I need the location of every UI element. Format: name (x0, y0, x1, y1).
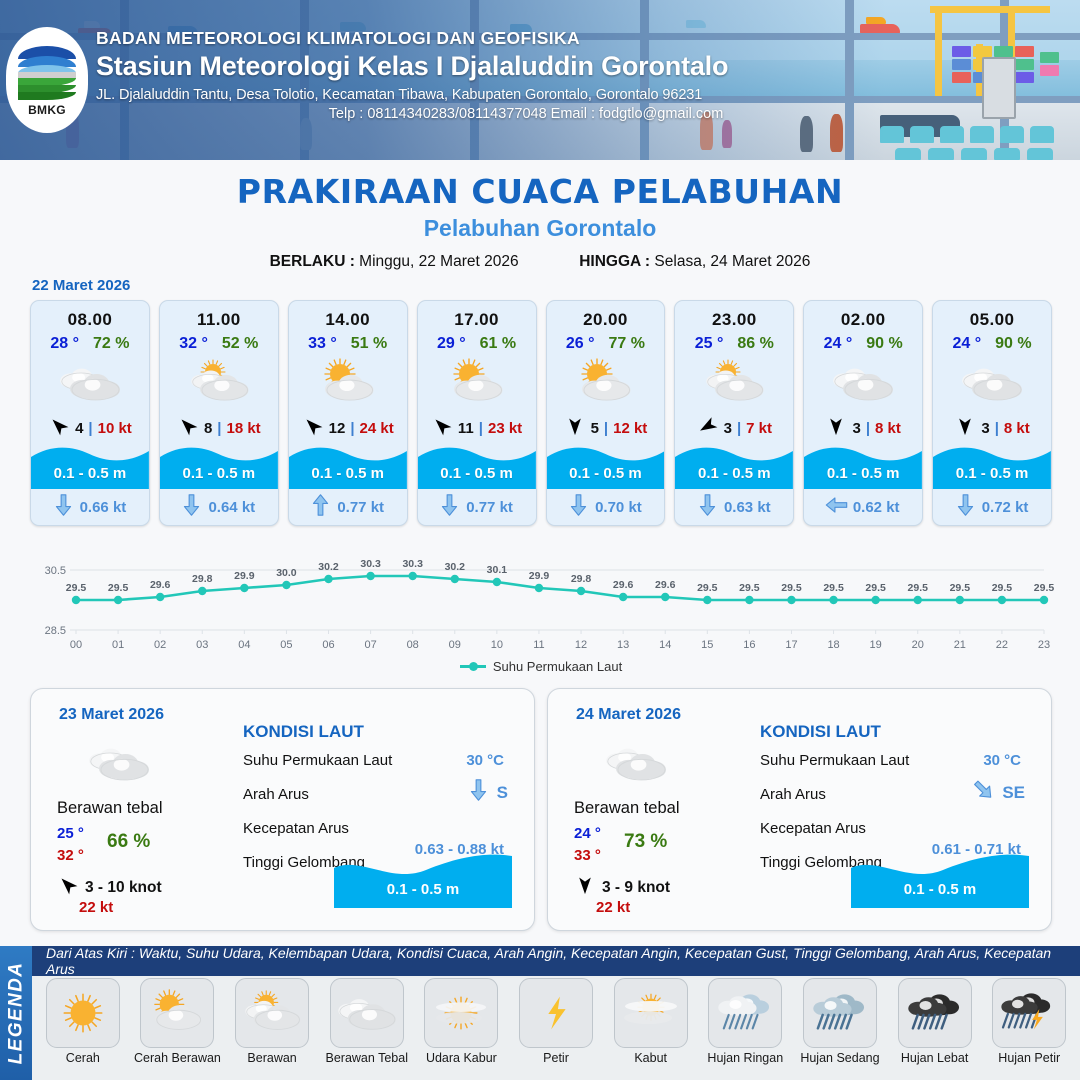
card-wave-band: 0.1 - 0.5 m (804, 443, 922, 489)
svg-text:06: 06 (322, 639, 334, 651)
card-humidity: 61 % (480, 335, 516, 353)
card-current: 0.62 kt (804, 489, 922, 525)
svg-text:19: 19 (870, 639, 882, 651)
current-speed-value: 0.63 kt (724, 499, 771, 516)
card-time: 11.00 (160, 301, 278, 330)
svg-text:29.5: 29.5 (66, 582, 87, 594)
wind-direction-arrow-icon (564, 416, 586, 441)
wind-direction-value: 8 (204, 420, 212, 437)
svg-text:16: 16 (743, 639, 755, 651)
svg-text:30.0: 30.0 (276, 567, 297, 579)
bmkg-logo: BMKG (6, 27, 88, 133)
legend-note: Dari Atas Kiri : Waktu, Suhu Udara, Kele… (46, 945, 1080, 977)
card-temperature: 25 ° (695, 335, 724, 353)
panel-wave-band: 0.1 - 0.5 m (851, 850, 1029, 908)
card-temp-humidity: 24 ° 90 % (933, 335, 1051, 353)
sea-row-current-speed-label: Kecepatan Arus (243, 820, 349, 837)
wind-speed-value: 7 kt (746, 420, 772, 437)
svg-text:11: 11 (533, 639, 544, 651)
wind-separator: | (866, 420, 870, 437)
wave-height-value: 0.1 - 0.5 m (31, 465, 149, 482)
svg-text:30.3: 30.3 (360, 558, 381, 570)
current-direction-arrow-icon (440, 494, 459, 521)
svg-text:12: 12 (575, 639, 587, 651)
current-speed-value: 0.66 kt (80, 499, 127, 516)
card-humidity: 77 % (609, 335, 645, 353)
panel-temp-min: 24 ° (574, 825, 601, 842)
svg-text:04: 04 (238, 639, 250, 651)
svg-text:07: 07 (364, 639, 376, 651)
svg-text:17: 17 (785, 639, 797, 651)
header-text-block: BADAN METEOROLOGI KLIMATOLOGI DAN GEOFIS… (96, 28, 956, 122)
panel-wave-band: 0.1 - 0.5 m (334, 850, 512, 908)
svg-text:15: 15 (701, 639, 713, 651)
wind-direction-arrow-icon (48, 416, 70, 441)
forecast-card[interactable]: 20.00 26 ° 77 % 5 | 12 kt 0.1 - 0.5 m (546, 300, 666, 526)
sea-row-sst-label: Suhu Permukaan Laut (243, 752, 392, 769)
sea-current-direction: S (469, 779, 508, 806)
sst-chart: 30.528.529.50029.50129.60229.80329.90430… (24, 556, 1058, 684)
valid-until-value: Selasa, 24 Maret 2026 (654, 253, 810, 270)
card-wind: 8 | 18 kt (160, 415, 278, 441)
svg-text:29.9: 29.9 (529, 570, 550, 582)
legend-item: Berawan (227, 978, 317, 1078)
valid-from-value: Minggu, 22 Maret 2026 (359, 253, 518, 270)
panel-condition: Berawan tebal (57, 799, 163, 818)
wind-direction-value: 12 (329, 420, 346, 437)
wave-height-value: 0.1 - 0.5 m (289, 465, 407, 482)
wind-separator: | (995, 420, 999, 437)
wind-direction-arrow-icon (697, 416, 719, 441)
svg-text:03: 03 (196, 639, 208, 651)
valid-until-label: HINGGA : (579, 253, 650, 270)
current-direction-arrow-icon (569, 494, 588, 521)
legend-side-text: LEGENDA (5, 962, 27, 1065)
card-time: 17.00 (418, 301, 536, 330)
sea-row-current-dir-label: Arah Arus (243, 786, 309, 803)
current-speed-value: 0.77 kt (337, 499, 384, 516)
current-speed-value: 0.70 kt (595, 499, 642, 516)
card-current: 0.64 kt (160, 489, 278, 525)
wind-speed-value: 24 kt (360, 420, 394, 437)
card-temp-humidity: 28 ° 72 % (31, 335, 149, 353)
legend-item: Hujan Lebat (890, 978, 980, 1078)
svg-text:29.6: 29.6 (655, 579, 676, 591)
card-wind: 4 | 10 kt (31, 415, 149, 441)
card-temp-humidity: 26 ° 77 % (547, 335, 665, 353)
sea-current-direction-value: S (497, 783, 508, 803)
card-wave-band: 0.1 - 0.5 m (160, 443, 278, 489)
sea-sst-value: 30 °C (983, 752, 1021, 769)
sea-current-direction: SE (974, 779, 1025, 806)
chart-legend-label: Suhu Permukaan Laut (493, 659, 622, 674)
card-wave-band: 0.1 - 0.5 m (547, 443, 665, 489)
weather-berawan-icon (235, 978, 309, 1048)
sea-sst-value: 30 °C (466, 752, 504, 769)
panel-gust-value: 22 kt (79, 899, 113, 916)
card-temperature: 28 ° (50, 335, 79, 353)
card-time: 05.00 (933, 301, 1051, 330)
svg-text:22: 22 (996, 639, 1008, 651)
sea-conditions-title: KONDISI LAUT (760, 722, 881, 742)
card-wave-band: 0.1 - 0.5 m (418, 443, 536, 489)
card-wave-band: 0.1 - 0.5 m (31, 443, 149, 489)
card-time: 20.00 (547, 301, 665, 330)
station-address: JL. Djalaluddin Tantu, Desa Tolotio, Kec… (96, 87, 956, 103)
card-wind: 3 | 7 kt (675, 415, 793, 441)
sst-chart-plot: 30.528.529.50029.50129.60229.80329.90430… (24, 556, 1058, 656)
weather-kabut-icon (614, 978, 688, 1048)
forecast-day-label: 22 Maret 2026 (32, 277, 130, 294)
wind-speed-value: 23 kt (488, 420, 522, 437)
card-wind: 3 | 8 kt (933, 415, 1051, 441)
wind-speed-value: 8 kt (1004, 420, 1030, 437)
legend-item-label: Kabut (634, 1052, 667, 1066)
legend-item-label: Cerah Berawan (134, 1052, 221, 1066)
weather-cerah-icon (46, 978, 120, 1048)
svg-text:01: 01 (112, 639, 124, 651)
svg-text:00: 00 (70, 639, 82, 651)
card-wave-band: 0.1 - 0.5 m (289, 443, 407, 489)
wind-separator: | (737, 420, 741, 437)
current-speed-value: 0.62 kt (853, 499, 900, 516)
legend-item-label: Hujan Ringan (707, 1052, 783, 1066)
wind-speed-value: 18 kt (226, 420, 260, 437)
current-direction-arrow-icon (698, 494, 717, 521)
card-humidity: 52 % (222, 335, 258, 353)
legend-item: Hujan Sedang (795, 978, 885, 1078)
current-direction-arrow-icon (827, 494, 846, 521)
svg-text:21: 21 (954, 639, 966, 651)
weather-petir-icon (519, 978, 593, 1048)
legend-section: LEGENDA Dari Atas Kiri : Waktu, Suhu Uda… (0, 946, 1080, 1080)
bmkg-logo-symbol (18, 44, 76, 102)
wave-height-value: 0.1 - 0.5 m (418, 465, 536, 482)
legend-item-label: Berawan (247, 1052, 296, 1066)
wind-direction-value: 11 (458, 420, 474, 437)
card-temp-humidity: 33 ° 51 % (289, 335, 407, 353)
card-humidity: 72 % (93, 335, 129, 353)
wave-height-value: 0.1 - 0.5 m (547, 465, 665, 482)
weather-berawan-tebal-icon (804, 355, 922, 411)
card-temperature: 32 ° (179, 335, 208, 353)
wind-separator: | (479, 420, 483, 437)
weather-hujan-petir-icon (992, 978, 1066, 1048)
legend-item: Petir (511, 978, 601, 1078)
wave-height-value: 0.1 - 0.5 m (804, 465, 922, 482)
bmkg-logo-text: BMKG (28, 103, 66, 117)
legend-item-label: Berawan Tebal (326, 1052, 408, 1066)
legend-item: Udara Kabur (417, 978, 507, 1078)
wind-speed-value: 10 kt (98, 420, 132, 437)
weather-cerah-berawan-icon (418, 355, 536, 411)
svg-text:29.5: 29.5 (865, 582, 886, 594)
legend-item-label: Hujan Lebat (901, 1052, 968, 1066)
station-name: Stasiun Meteorologi Kelas I Djalaluddin … (96, 51, 956, 82)
legend-note-bar: Dari Atas Kiri : Waktu, Suhu Udara, Kele… (32, 946, 1080, 976)
wind-speed-value: 12 kt (613, 420, 647, 437)
forecast-card[interactable]: 05.00 24 ° 90 % 3 | 8 kt (932, 300, 1052, 526)
card-current: 0.72 kt (933, 489, 1051, 525)
svg-text:29.5: 29.5 (950, 582, 971, 594)
card-temp-humidity: 24 ° 90 % (804, 335, 922, 353)
weather-hujan-ringan-icon (708, 978, 782, 1048)
page-title: PRAKIRAAN CUACA PELABUHAN (0, 172, 1080, 211)
panel-wave-value: 0.1 - 0.5 m (851, 881, 1029, 898)
svg-text:29.5: 29.5 (108, 582, 129, 594)
current-speed-value: 0.72 kt (982, 499, 1029, 516)
current-direction-arrow-icon (54, 494, 73, 521)
wind-direction-value: 3 (724, 420, 732, 437)
wind-direction-value: 3 (981, 420, 989, 437)
svg-text:29.9: 29.9 (234, 570, 255, 582)
svg-text:29.5: 29.5 (992, 582, 1013, 594)
sea-row-sst-label: Suhu Permukaan Laut (760, 752, 909, 769)
panel-temp-max: 33 ° (574, 847, 601, 864)
panel-wind: 3 - 10 knot (57, 875, 162, 900)
svg-text:29.5: 29.5 (697, 582, 718, 594)
card-humidity: 86 % (737, 335, 773, 353)
svg-text:30.3: 30.3 (402, 558, 423, 570)
svg-text:29.8: 29.8 (192, 573, 213, 585)
svg-text:29.5: 29.5 (1034, 582, 1055, 594)
wind-separator: | (217, 420, 221, 437)
card-wave-band: 0.1 - 0.5 m (675, 443, 793, 489)
wind-separator: | (88, 420, 92, 437)
station-contact: Telp : 08114340283/08114377048 Email : f… (96, 106, 956, 122)
weather-hujan-sedang-icon (803, 978, 877, 1048)
daily-summary-panel[interactable]: 23 Maret 2026 Berawan tebal 25 ° 32 ° 66… (30, 688, 535, 931)
chart-legend-marker (460, 665, 486, 668)
card-wave-band: 0.1 - 0.5 m (933, 443, 1051, 489)
weather-cerah-berawan-icon (547, 355, 665, 411)
card-current: 0.66 kt (31, 489, 149, 525)
sea-conditions-title: KONDISI LAUT (243, 722, 364, 742)
valid-from-label: BERLAKU : (270, 253, 355, 270)
wind-direction-arrow-icon (825, 416, 847, 441)
current-direction-arrow-icon (182, 494, 201, 521)
panel-wind-value: 3 - 10 knot (85, 879, 162, 897)
svg-text:30.2: 30.2 (445, 561, 466, 573)
svg-text:05: 05 (280, 639, 292, 651)
panel-date: 24 Maret 2026 (576, 706, 681, 724)
weather-berawan-tebal-icon (31, 355, 149, 411)
wind-direction-value: 5 (591, 420, 599, 437)
wind-separator: | (350, 420, 354, 437)
wind-direction-value: 4 (75, 420, 83, 437)
card-current: 0.77 kt (289, 489, 407, 525)
daily-summary-panels: 23 Maret 2026 Berawan tebal 25 ° 32 ° 66… (30, 688, 1052, 931)
agency-name: BADAN METEOROLOGI KLIMATOLOGI DAN GEOFIS… (96, 28, 956, 49)
hourly-forecast-cards: 08.00 28 ° 72 % 4 | 10 kt (30, 300, 1052, 526)
card-time: 02.00 (804, 301, 922, 330)
legend-item-label: Hujan Petir (998, 1052, 1060, 1066)
weather-berawan-tebal-icon (83, 737, 155, 789)
card-humidity: 51 % (351, 335, 387, 353)
page-subtitle: Pelabuhan Gorontalo (0, 215, 1080, 242)
current-speed-value: 0.64 kt (208, 499, 255, 516)
page-header: BMKG BADAN METEOROLOGI KLIMATOLOGI DAN G… (0, 0, 1080, 160)
card-wind: 5 | 12 kt (547, 415, 665, 441)
svg-text:30.2: 30.2 (318, 561, 339, 573)
legend-item-label: Hujan Sedang (800, 1052, 879, 1066)
legend-item: Hujan Petir (984, 978, 1074, 1078)
svg-text:23: 23 (1038, 639, 1050, 651)
legend-item: Berawan Tebal (322, 978, 412, 1078)
svg-text:13: 13 (617, 639, 629, 651)
legend-item: Kabut (606, 978, 696, 1078)
wind-direction-arrow-icon (177, 416, 199, 441)
svg-text:20: 20 (912, 639, 924, 651)
validity-line: BERLAKU : Minggu, 22 Maret 2026 HINGGA :… (0, 253, 1080, 271)
wind-separator: | (604, 420, 608, 437)
wind-speed-value: 8 kt (875, 420, 901, 437)
svg-text:10: 10 (491, 639, 503, 651)
weather-berawan-tebal-icon (600, 737, 672, 789)
svg-text:28.5: 28.5 (45, 625, 66, 637)
card-temperature: 33 ° (308, 335, 337, 353)
weather-berawan-tebal-icon (933, 355, 1051, 411)
card-time: 23.00 (675, 301, 793, 330)
card-wind: 12 | 24 kt (289, 415, 407, 441)
panel-date: 23 Maret 2026 (59, 706, 164, 724)
weather-cerah-berawan-icon (289, 355, 407, 411)
wind-direction-arrow-icon (431, 416, 453, 441)
card-temperature: 26 ° (566, 335, 595, 353)
svg-text:30.1: 30.1 (487, 564, 508, 576)
weather-berawan-icon (675, 355, 793, 411)
svg-text:09: 09 (449, 639, 461, 651)
card-temp-humidity: 25 ° 86 % (675, 335, 793, 353)
svg-text:02: 02 (154, 639, 166, 651)
card-temp-humidity: 29 ° 61 % (418, 335, 536, 353)
card-wind: 3 | 8 kt (804, 415, 922, 441)
panel-temp-max: 32 ° (57, 847, 84, 864)
card-current: 0.77 kt (418, 489, 536, 525)
weather-cerah-berawan-icon (140, 978, 214, 1048)
wind-direction-arrow-icon (574, 875, 596, 900)
weather-berawan-icon (160, 355, 278, 411)
svg-text:29.5: 29.5 (908, 582, 929, 594)
card-current: 0.70 kt (547, 489, 665, 525)
svg-text:29.8: 29.8 (571, 573, 592, 585)
svg-text:30.5: 30.5 (45, 565, 66, 577)
legend-item-label: Udara Kabur (426, 1052, 497, 1066)
svg-text:18: 18 (827, 639, 839, 651)
svg-text:29.6: 29.6 (150, 579, 171, 591)
current-direction-arrow-icon (469, 779, 488, 806)
weather-udara-kabur-icon (424, 978, 498, 1048)
legend-item-label: Cerah (66, 1052, 100, 1066)
panel-condition: Berawan tebal (574, 799, 680, 818)
card-wind: 11 | 23 kt (418, 415, 536, 441)
wind-direction-arrow-icon (302, 416, 324, 441)
forecast-card[interactable]: 23.00 25 ° 86 % 3 | 7 kt (674, 300, 794, 526)
card-time: 14.00 (289, 301, 407, 330)
card-time: 08.00 (31, 301, 149, 330)
legend-item-label: Petir (543, 1052, 569, 1066)
sea-current-direction-value: SE (1002, 783, 1025, 803)
wind-direction-arrow-icon (954, 416, 976, 441)
forecast-card[interactable]: 11.00 32 ° 52 % 8 | 18 kt (159, 300, 279, 526)
current-direction-arrow-icon (311, 494, 330, 521)
svg-text:29.5: 29.5 (781, 582, 802, 594)
current-direction-arrow-icon (956, 494, 975, 521)
forecast-card[interactable]: 02.00 24 ° 90 % 3 | 8 kt (803, 300, 923, 526)
sea-row-current-dir-label: Arah Arus (760, 786, 826, 803)
legend-item: Cerah (38, 978, 128, 1078)
wave-height-value: 0.1 - 0.5 m (160, 465, 278, 482)
legend-item: Cerah Berawan (133, 978, 223, 1078)
panel-humidity: 73 % (624, 831, 667, 853)
legend-side-label: LEGENDA (0, 946, 32, 1080)
svg-text:29.5: 29.5 (739, 582, 760, 594)
panel-wind-value: 3 - 9 knot (602, 879, 670, 897)
card-humidity: 90 % (995, 335, 1031, 353)
panel-wind: 3 - 9 knot (574, 875, 670, 900)
forecast-card[interactable]: 14.00 33 ° 51 % 12 | 24 kt 0.1 - 0.5 m (288, 300, 408, 526)
svg-text:29.6: 29.6 (613, 579, 634, 591)
panel-wave-value: 0.1 - 0.5 m (334, 881, 512, 898)
wind-direction-value: 3 (852, 420, 860, 437)
current-speed-value: 0.77 kt (466, 499, 513, 516)
card-humidity: 90 % (866, 335, 902, 353)
wind-direction-arrow-icon (57, 875, 79, 900)
legend-icon-list: Cerah Cerah Berawan Berawan (34, 978, 1078, 1078)
card-current: 0.63 kt (675, 489, 793, 525)
wave-height-value: 0.1 - 0.5 m (675, 465, 793, 482)
chart-legend: Suhu Permukaan Laut (24, 659, 1058, 674)
panel-temp-min: 25 ° (57, 825, 84, 842)
card-temperature: 29 ° (437, 335, 466, 353)
weather-berawan-tebal-icon (330, 978, 404, 1048)
title-block: PRAKIRAAN CUACA PELABUHAN Pelabuhan Goro… (0, 172, 1080, 271)
forecast-card[interactable]: 17.00 29 ° 61 % 11 | 23 kt 0.1 - 0.5 m (417, 300, 537, 526)
legend-item: Hujan Ringan (700, 978, 790, 1078)
current-direction-arrow-icon (974, 779, 993, 806)
daily-summary-panel[interactable]: 24 Maret 2026 Berawan tebal 24 ° 33 ° 73… (547, 688, 1052, 931)
sea-row-current-speed-label: Kecepatan Arus (760, 820, 866, 837)
svg-text:08: 08 (407, 639, 419, 651)
svg-text:14: 14 (659, 639, 671, 651)
panel-gust-value: 22 kt (596, 899, 630, 916)
forecast-card[interactable]: 08.00 28 ° 72 % 4 | 10 kt (30, 300, 150, 526)
weather-hujan-lebat-icon (898, 978, 972, 1048)
card-temperature: 24 ° (953, 335, 982, 353)
svg-text:29.5: 29.5 (823, 582, 844, 594)
card-temp-humidity: 32 ° 52 % (160, 335, 278, 353)
wave-height-value: 0.1 - 0.5 m (933, 465, 1051, 482)
panel-humidity: 66 % (107, 831, 150, 853)
card-temperature: 24 ° (824, 335, 853, 353)
